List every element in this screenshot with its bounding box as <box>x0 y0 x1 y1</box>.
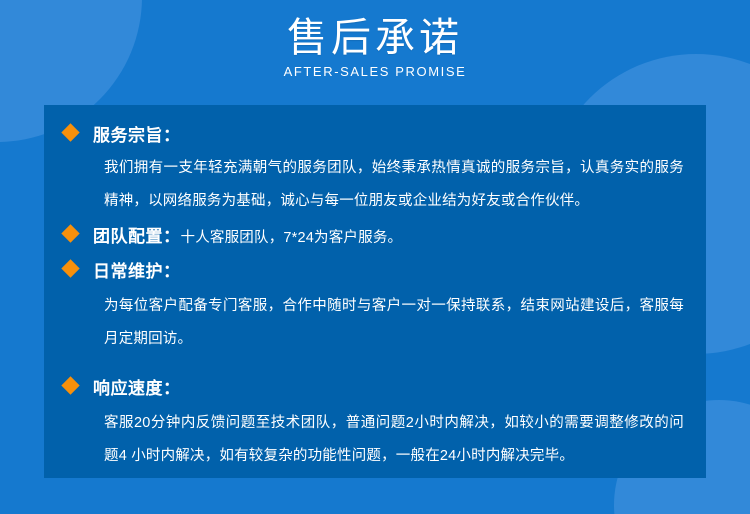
promise-section-response-speed: 响应速度： 客服20分钟内反馈问题至技术团队，普通问题2小时内解决，如较小的需要… <box>62 374 688 473</box>
section-title: 服务宗旨： <box>93 121 181 151</box>
section-heading: 团队配置： 十人客服团队，7*24为客户服务。 <box>62 222 688 253</box>
after-sales-promise-page: { "header": { "title_cn": "售后承诺", "title… <box>0 0 750 514</box>
diamond-bullet-icon <box>61 259 79 277</box>
section-inline-text: 十人客服团队，7*24为客户服务。 <box>181 223 403 253</box>
section-body: 客服20分钟内反馈问题至技术团队，普通问题2小时内解决，如较小的需要调整修改的问… <box>62 407 688 473</box>
promise-section-list: 服务宗旨： 我们拥有一支年轻充满朝气的服务团队，始终秉承热情真诚的服务宗旨，认真… <box>44 105 706 473</box>
section-body: 我们拥有一支年轻充满朝气的服务团队，始终秉承热情真诚的服务宗旨，认真务实的服务精… <box>62 152 688 218</box>
diamond-bullet-icon <box>61 123 79 141</box>
content-panel: 服务宗旨： 我们拥有一支年轻充满朝气的服务团队，始终秉承热情真诚的服务宗旨，认真… <box>44 105 706 478</box>
section-title: 团队配置： <box>93 222 181 252</box>
page-header: 售后承诺 AFTER-SALES PROMISE <box>0 14 750 81</box>
page-title: 售后承诺 <box>0 14 750 62</box>
section-title: 响应速度： <box>93 374 181 404</box>
section-title: 日常维护： <box>93 257 181 287</box>
section-body-text: 为每位客户配备专门客服，合作中随时与客户一对一保持联系，结束网站建设后，客服每月… <box>104 290 684 356</box>
promise-section-daily-maintenance: 日常维护： 为每位客户配备专门客服，合作中随时与客户一对一保持联系，结束网站建设… <box>62 257 688 356</box>
promise-section-team-config: 团队配置： 十人客服团队，7*24为客户服务。 <box>62 222 688 253</box>
section-heading: 服务宗旨： <box>62 121 688 151</box>
section-body: 为每位客户配备专门客服，合作中随时与客户一对一保持联系，结束网站建设后，客服每月… <box>62 290 688 356</box>
page-subtitle: AFTER-SALES PROMISE <box>0 63 750 81</box>
promise-section-service-purpose: 服务宗旨： 我们拥有一支年轻充满朝气的服务团队，始终秉承热情真诚的服务宗旨，认真… <box>62 121 688 218</box>
section-heading: 日常维护： <box>62 257 688 287</box>
section-heading: 响应速度： <box>62 374 688 404</box>
section-body-text: 我们拥有一支年轻充满朝气的服务团队，始终秉承热情真诚的服务宗旨，认真务实的服务精… <box>104 152 684 218</box>
section-body-text: 客服20分钟内反馈问题至技术团队，普通问题2小时内解决，如较小的需要调整修改的问… <box>104 407 684 473</box>
diamond-bullet-icon <box>61 376 79 394</box>
diamond-bullet-icon <box>61 224 79 242</box>
